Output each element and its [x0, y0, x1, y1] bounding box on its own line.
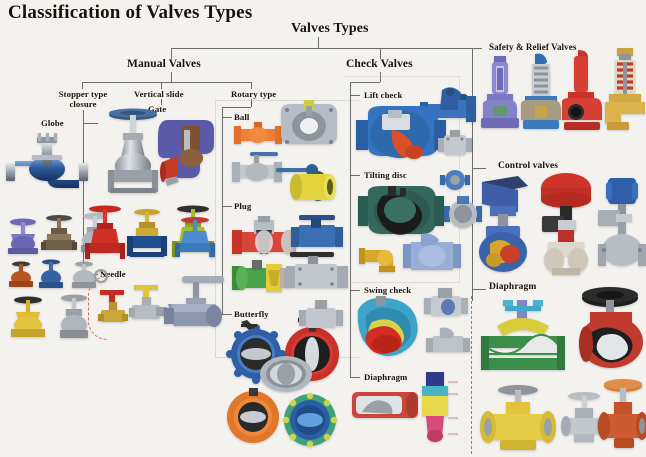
valve-image-safety-relief-blue-spring — [521, 54, 561, 130]
valve-image-ball-yellow-lever — [276, 160, 336, 204]
valve-image-globe-orange — [8, 258, 34, 290]
valve-image-control-blue-actuator — [478, 176, 532, 276]
stopper-label-line1: Stopper type — [59, 89, 108, 99]
valve-image-lift-check-small-steel — [438, 130, 472, 160]
node-manual-valves: Manual Valves — [127, 58, 201, 70]
leaf-check-diaphragm: Diaphragm — [364, 372, 407, 382]
connector-to-rotary — [251, 82, 252, 89]
valve-image-gate-brass-blue — [126, 207, 168, 261]
valve-image-needle-red — [96, 284, 130, 328]
valve-image-globe-yellow — [8, 293, 48, 341]
connector-root-stem — [318, 37, 319, 48]
valve-image-safety-relief-purple — [481, 56, 519, 130]
connector-main-bus — [171, 48, 473, 49]
stopper-label-line2: closure — [69, 99, 96, 109]
valve-image-butterfly-disc-pair — [258, 354, 314, 394]
valve-image-swing-check-grey — [426, 328, 470, 358]
leaf-globe: Globe — [41, 118, 64, 128]
valve-image-needle-large-blue — [158, 270, 224, 332]
valve-image-check-blue-extra — [440, 168, 470, 192]
valve-image-gate-red — [85, 203, 125, 263]
connector-manual-stem — [171, 72, 172, 82]
valve-image-ball-steel — [232, 152, 282, 186]
connector-stopper-to-globe — [83, 123, 98, 124]
connector-check-to-diaphragm — [350, 377, 360, 378]
node-diaphragm-main: Diaphragm — [489, 282, 536, 292]
dashed-divider-right — [471, 296, 472, 454]
valve-image-control-steel-globe — [596, 178, 646, 274]
valve-image-plug-blue — [291, 215, 343, 255]
valve-image-globe-blue-small — [38, 256, 64, 290]
node-control-valves: Control valves — [498, 161, 558, 171]
valve-image-lift-check-cutaway — [356, 104, 446, 166]
valve-image-globe-grey-tall — [56, 291, 92, 341]
valve-image-control-red-actuator — [538, 172, 594, 276]
connector-to-safety — [472, 48, 482, 49]
valve-image-gate-large — [105, 108, 161, 198]
valve-image-globe-purple — [6, 212, 40, 256]
valve-image-diaphragm-yellow — [480, 382, 556, 456]
node-vertical-slide: Vertical slide — [134, 89, 184, 99]
connector-manual-bus — [82, 82, 251, 83]
leaf-swing-check: Swing check — [364, 285, 411, 295]
valve-image-safety-relief-brass-spring — [605, 48, 645, 132]
valve-image-globe-bronze — [41, 210, 77, 256]
node-check-valves: Check Valves — [346, 58, 413, 70]
valve-image-ball-orange — [234, 122, 282, 148]
valve-image-swing-check-cutaway — [352, 296, 426, 358]
connector-to-stopper — [82, 82, 83, 89]
valve-image-check-diaphragm-diagram — [418, 372, 460, 444]
valve-image-swing-check-steel — [424, 288, 468, 322]
page-title: Classification of Valves Types — [8, 2, 252, 24]
valve-image-tilting-disc-yellow — [359, 240, 399, 274]
valve-image-diaphragm-diagram-green — [477, 300, 569, 380]
valve-image-butterfly-teal — [282, 392, 338, 448]
valve-image-safety-relief-red — [562, 50, 602, 130]
connector-check-to-swing — [350, 290, 360, 291]
diagram-canvas: Classification of Valves Types Valves Ty… — [0, 0, 646, 457]
valve-image-plug-steel-extra — [299, 300, 343, 334]
valve-image-ball-cutaway-steel — [277, 100, 341, 152]
valve-image-globe-cutaway — [4, 133, 90, 195]
valve-image-tilting-disc-blue-small — [444, 196, 482, 230]
valve-image-tilting-disc-cutaway — [358, 184, 444, 240]
root-node-valves-types: Valves Types — [291, 21, 369, 37]
valve-image-diaphragm-orange — [600, 378, 646, 456]
connector-to-control — [472, 168, 486, 169]
valve-image-knife-gate-cutaway — [160, 118, 222, 194]
valve-image-tilting-disc-lightblue — [403, 234, 461, 276]
connector-to-vertical-slide — [161, 82, 162, 89]
valve-image-gate-blue-small — [175, 215, 215, 261]
valve-image-plug-green-yellow — [232, 258, 288, 298]
valve-image-plug-steel-lever — [286, 252, 348, 296]
node-rotary-type: Rotary type — [231, 89, 276, 99]
valve-image-diaphragm-red-large — [576, 288, 646, 374]
valve-image-butterfly-orange — [224, 388, 282, 446]
valve-image-check-diaphragm-red — [352, 386, 418, 426]
connector-to-diaphragm-main — [472, 289, 486, 290]
node-stopper-type-closure: Stopper type closure — [52, 89, 114, 109]
